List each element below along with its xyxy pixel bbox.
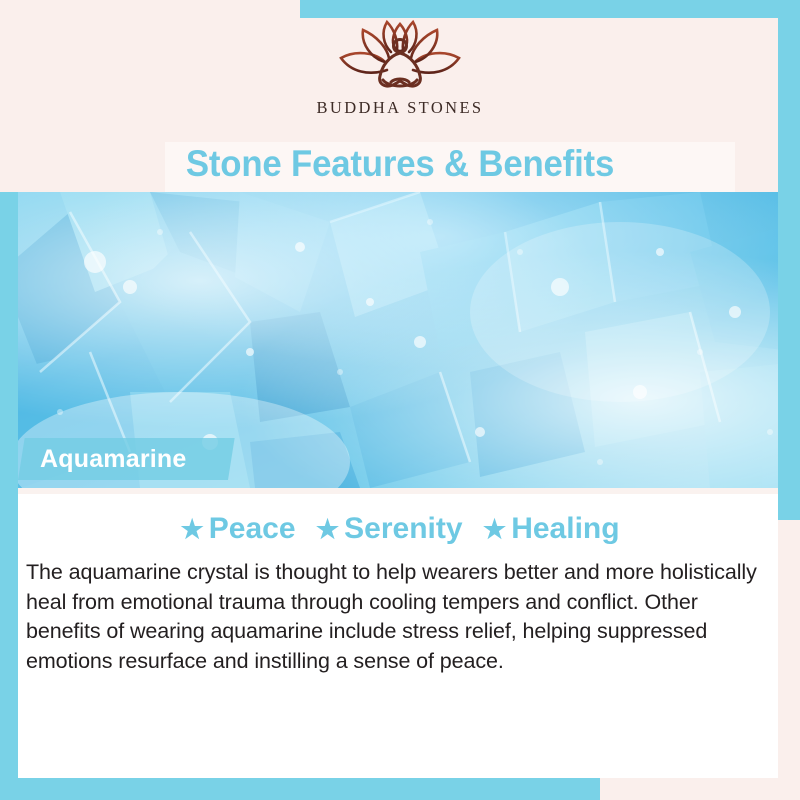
description-text: The aquamarine crystal is thought to hel… bbox=[26, 558, 766, 676]
page-title: Stone Features & Benefits bbox=[24, 143, 776, 185]
infographic-page: BUDDHA STONES Stone Features & Benefits bbox=[0, 0, 800, 800]
keyword-item-peace: ★Peace bbox=[180, 512, 295, 546]
keyword-item-healing: ★Healing bbox=[483, 512, 620, 546]
brand-name: BUDDHA STONES bbox=[316, 98, 483, 118]
keyword-label: Healing bbox=[511, 512, 619, 545]
keyword-label: Peace bbox=[209, 512, 296, 545]
stone-name-label: Aquamarine bbox=[40, 438, 186, 480]
brand-logo: BUDDHA STONES bbox=[0, 18, 800, 118]
hero-image: Aquamarine bbox=[0, 192, 800, 488]
star-icon: ★ bbox=[316, 514, 339, 544]
hero-left-accent-bar bbox=[0, 192, 18, 488]
keyword-label: Serenity bbox=[344, 512, 462, 545]
keyword-item-serenity: ★Serenity bbox=[316, 512, 463, 546]
lotus-meditation-figure-icon bbox=[325, 18, 475, 96]
frame-bottom-bar bbox=[0, 778, 600, 800]
star-icon: ★ bbox=[483, 514, 506, 544]
star-icon: ★ bbox=[180, 514, 203, 544]
hero-right-accent-bar bbox=[778, 192, 800, 488]
keyword-list: ★Peace ★Serenity ★Healing bbox=[0, 512, 800, 546]
frame-top-bar bbox=[300, 0, 800, 18]
